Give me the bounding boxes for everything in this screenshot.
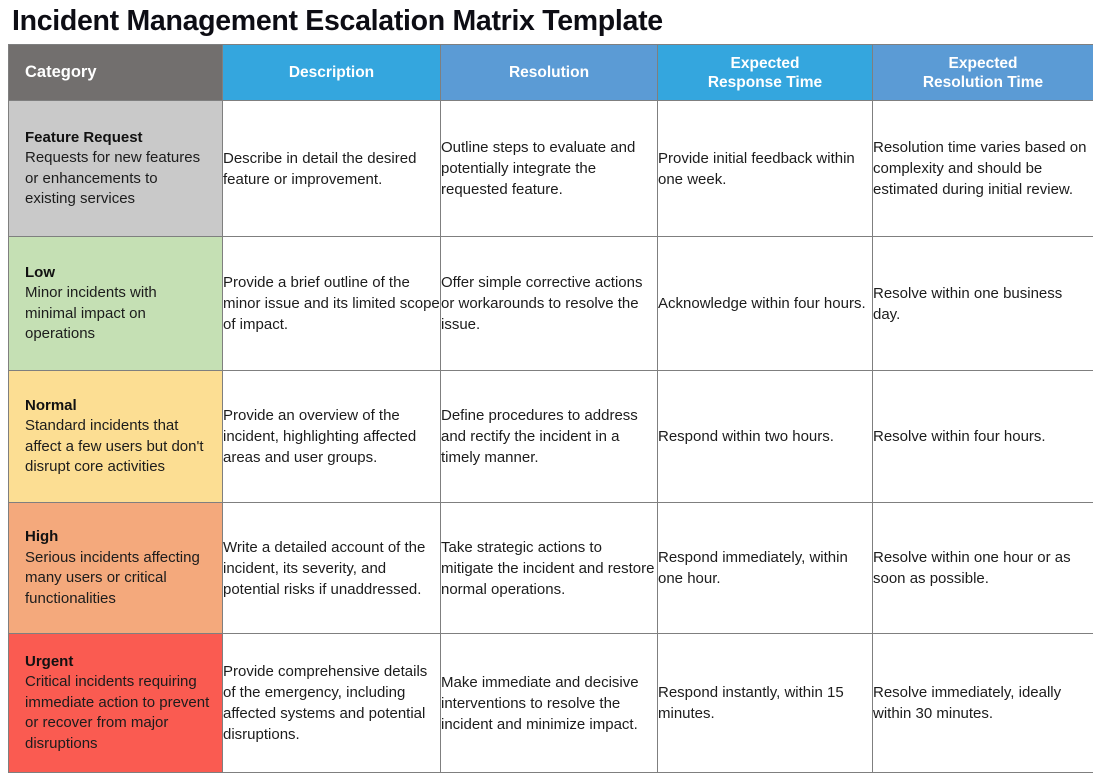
expected-response-time-cell[interactable]: Respond instantly, within 15 minutes. xyxy=(658,634,873,773)
expected-resolution-time-text: Resolve within one hour or as soon as po… xyxy=(873,547,1093,589)
table-row: Feature Request Requests for new feature… xyxy=(9,101,1093,237)
expected-resolution-time-cell[interactable]: Resolve within one hour or as soon as po… xyxy=(873,503,1093,634)
resolution-cell[interactable]: Make immediate and decisive intervention… xyxy=(441,634,658,773)
category-description: Standard incidents that affect a few use… xyxy=(25,416,212,478)
description-text: Provide a brief outline of the minor iss… xyxy=(223,272,440,335)
expected-response-time-text: Respond within two hours. xyxy=(658,426,872,447)
resolution-cell[interactable]: Define procedures to address and rectify… xyxy=(441,371,658,503)
category-title: Urgent xyxy=(25,652,212,673)
description-text: Describe in detail the desired feature o… xyxy=(223,148,440,190)
expected-response-time-cell[interactable]: Respond within two hours. xyxy=(658,371,873,503)
expected-resolution-time-cell[interactable]: Resolve immediately, ideally within 30 m… xyxy=(873,634,1093,773)
description-cell[interactable]: Provide a brief outline of the minor iss… xyxy=(223,237,441,371)
description-text: Provide comprehensive details of the eme… xyxy=(223,661,440,745)
category-cell[interactable]: Low Minor incidents with minimal impact … xyxy=(9,237,223,371)
column-header-resolution[interactable]: Resolution xyxy=(441,45,658,101)
expected-resolution-time-text: Resolve within one business day. xyxy=(873,283,1093,325)
column-header-expected-resolution-time-line2: Resolution Time xyxy=(923,74,1043,91)
expected-response-time-cell[interactable]: Provide initial feedback within one week… xyxy=(658,101,873,237)
description-cell[interactable]: Write a detailed account of the incident… xyxy=(223,503,441,634)
expected-response-time-text: Provide initial feedback within one week… xyxy=(658,148,872,190)
column-header-description-label: Description xyxy=(289,64,374,81)
resolution-text: Make immediate and decisive intervention… xyxy=(441,672,657,735)
expected-resolution-time-text: Resolution time varies based on complexi… xyxy=(873,137,1093,200)
table-header-row: Category Description Resolution Expected… xyxy=(9,45,1093,101)
category-description: Critical incidents requiring immediate a… xyxy=(25,672,212,754)
expected-resolution-time-cell[interactable]: Resolve within four hours. xyxy=(873,371,1093,503)
column-header-resolution-label: Resolution xyxy=(509,64,589,81)
table-body: Feature Request Requests for new feature… xyxy=(9,101,1093,773)
category-title: Normal xyxy=(25,396,212,417)
description-cell[interactable]: Describe in detail the desired feature o… xyxy=(223,101,441,237)
column-header-expected-resolution-time[interactable]: ExpectedResolution Time xyxy=(873,45,1093,101)
escalation-matrix-page: Incident Management Escalation Matrix Te… xyxy=(0,0,1093,772)
category-cell[interactable]: Normal Standard incidents that affect a … xyxy=(9,371,223,503)
resolution-text: Offer simple corrective actions or worka… xyxy=(441,272,657,335)
resolution-text: Take strategic actions to mitigate the i… xyxy=(441,537,657,600)
column-header-expected-resolution-time-line1: Expected xyxy=(949,55,1018,72)
expected-resolution-time-cell[interactable]: Resolve within one business day. xyxy=(873,237,1093,371)
resolution-cell[interactable]: Outline steps to evaluate and potentiall… xyxy=(441,101,658,237)
escalation-matrix-table: Category Description Resolution Expected… xyxy=(8,44,1093,773)
description-cell[interactable]: Provide comprehensive details of the eme… xyxy=(223,634,441,773)
expected-resolution-time-cell[interactable]: Resolution time varies based on complexi… xyxy=(873,101,1093,237)
column-header-description[interactable]: Description xyxy=(223,45,441,101)
category-title: Low xyxy=(25,263,212,284)
expected-response-time-text: Respond immediately, within one hour. xyxy=(658,547,872,589)
category-cell[interactable]: High Serious incidents affecting many us… xyxy=(9,503,223,634)
table-row: High Serious incidents affecting many us… xyxy=(9,503,1093,634)
resolution-cell[interactable]: Offer simple corrective actions or worka… xyxy=(441,237,658,371)
resolution-text: Outline steps to evaluate and potentiall… xyxy=(441,137,657,200)
expected-resolution-time-text: Resolve within four hours. xyxy=(873,426,1093,447)
table-row: Low Minor incidents with minimal impact … xyxy=(9,237,1093,371)
category-title: High xyxy=(25,527,212,548)
column-header-expected-response-time-line2: Response Time xyxy=(708,74,822,91)
page-title: Incident Management Escalation Matrix Te… xyxy=(12,1,663,41)
description-cell[interactable]: Provide an overview of the incident, hig… xyxy=(223,371,441,503)
category-description: Requests for new features or enhancement… xyxy=(25,148,212,210)
expected-resolution-time-text: Resolve immediately, ideally within 30 m… xyxy=(873,682,1093,724)
description-text: Write a detailed account of the incident… xyxy=(223,537,440,600)
column-header-expected-response-time[interactable]: ExpectedResponse Time xyxy=(658,45,873,101)
table-row: Normal Standard incidents that affect a … xyxy=(9,371,1093,503)
expected-response-time-cell[interactable]: Acknowledge within four hours. xyxy=(658,237,873,371)
resolution-cell[interactable]: Take strategic actions to mitigate the i… xyxy=(441,503,658,634)
category-description: Minor incidents with minimal impact on o… xyxy=(25,283,212,345)
category-cell[interactable]: Feature Request Requests for new feature… xyxy=(9,101,223,237)
expected-response-time-text: Acknowledge within four hours. xyxy=(658,293,872,314)
table-row: Urgent Critical incidents requiring imme… xyxy=(9,634,1093,773)
category-description: Serious incidents affecting many users o… xyxy=(25,548,212,610)
resolution-text: Define procedures to address and rectify… xyxy=(441,405,657,468)
column-header-expected-response-time-line1: Expected xyxy=(731,55,800,72)
column-header-category-label: Category xyxy=(25,63,97,81)
expected-response-time-cell[interactable]: Respond immediately, within one hour. xyxy=(658,503,873,634)
table-header: Category Description Resolution Expected… xyxy=(9,45,1093,101)
expected-response-time-text: Respond instantly, within 15 minutes. xyxy=(658,682,872,724)
description-text: Provide an overview of the incident, hig… xyxy=(223,405,440,468)
category-cell[interactable]: Urgent Critical incidents requiring imme… xyxy=(9,634,223,773)
column-header-category[interactable]: Category xyxy=(9,45,223,101)
category-title: Feature Request xyxy=(25,128,212,149)
